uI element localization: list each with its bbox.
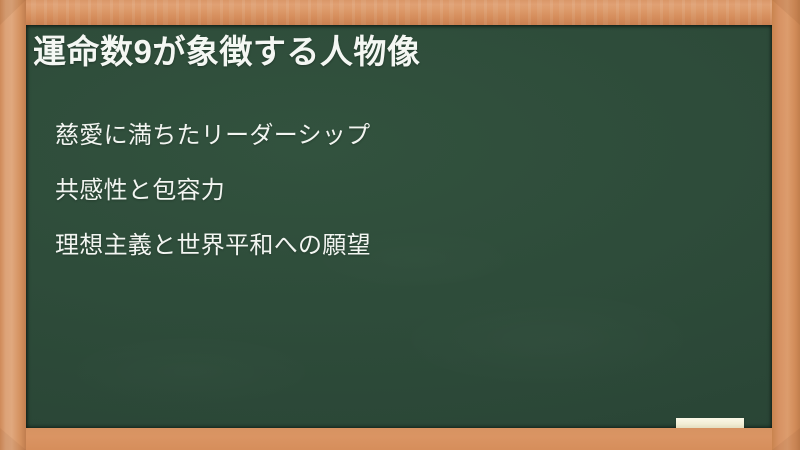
frame-plank-top xyxy=(0,0,800,25)
bullet-item-3: 理想主義と世界平和への願望 xyxy=(55,231,745,261)
chalkboard-surface: 運命数9が象徴する人物像 慈愛に満ちたリーダーシップ 共感性と包容力 理想主義と… xyxy=(26,25,772,428)
bullet-item-2: 共感性と包容力 xyxy=(55,176,745,206)
slide-bullet-list: 慈愛に満ちたリーダーシップ 共感性と包容力 理想主義と世界平和への願望 xyxy=(55,121,745,286)
frame-plank-left xyxy=(0,0,26,450)
chalkboard-slide: 運命数9が象徴する人物像 慈愛に満ちたリーダーシップ 共感性と包容力 理想主義と… xyxy=(0,0,800,450)
bullet-item-1: 慈愛に満ちたリーダーシップ xyxy=(55,121,745,151)
slide-title: 運命数9が象徴する人物像 xyxy=(33,31,753,73)
frame-plank-right xyxy=(772,0,800,450)
frame-plank-bottom xyxy=(0,428,800,450)
chalk-stick-icon xyxy=(676,418,744,428)
